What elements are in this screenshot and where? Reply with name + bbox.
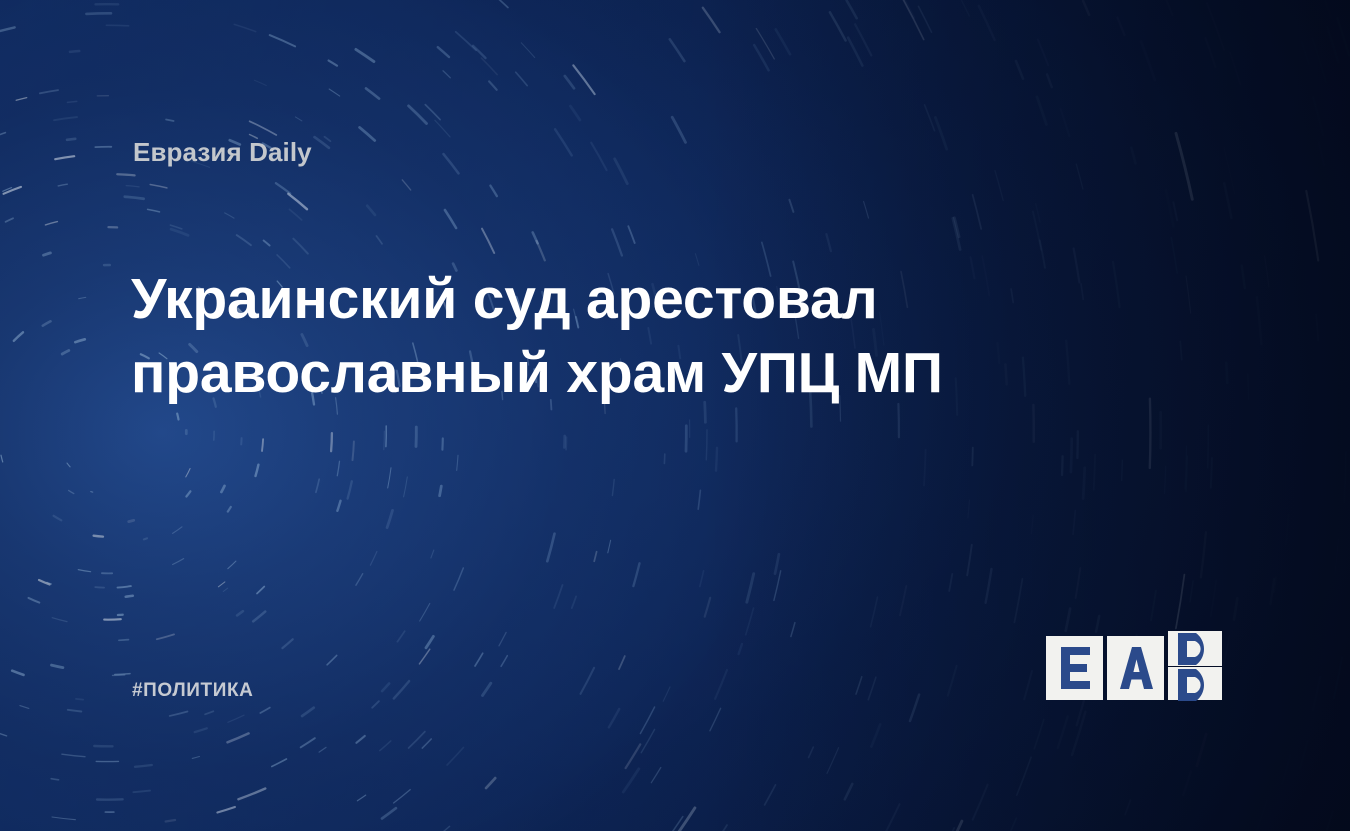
news-card: Евразия Daily Украинский суд арестовал п… xyxy=(0,0,1350,831)
headline-line-1: Украинский суд арестовал xyxy=(131,262,1031,336)
brand-name: Евразия Daily xyxy=(133,137,312,168)
eadaily-logo[interactable] xyxy=(1046,631,1222,701)
category-tag[interactable]: #ПОЛИТИКА xyxy=(132,680,254,702)
logo-tile-2 xyxy=(1107,636,1164,700)
logo-letter-e xyxy=(1061,647,1090,689)
headline-line-2: православный храм УПЦ МП xyxy=(131,336,1031,410)
headline: Украинский суд арестовал православный хр… xyxy=(131,262,1031,410)
eadaily-logo-svg xyxy=(1046,631,1222,701)
card-content: Евразия Daily Украинский суд арестовал п… xyxy=(0,0,1350,831)
